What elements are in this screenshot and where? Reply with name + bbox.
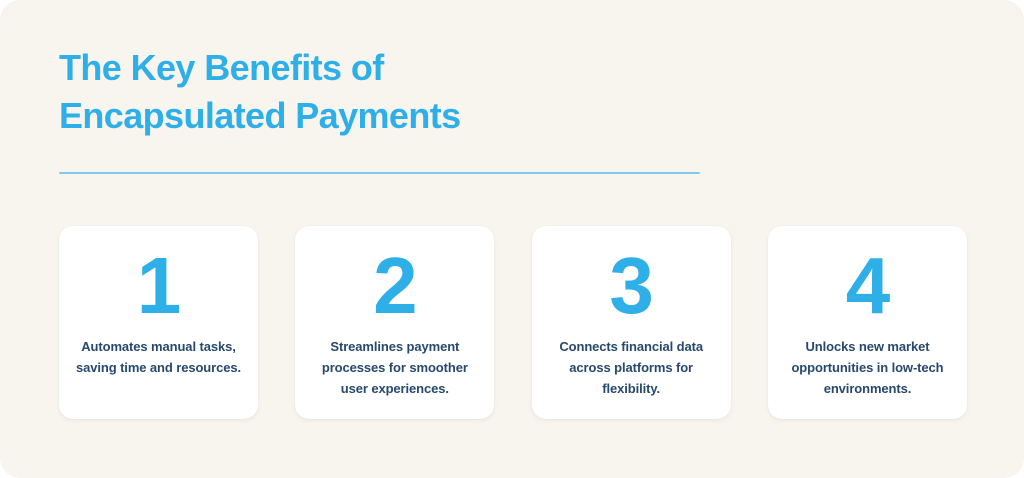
benefit-card-1: 1 Automates manual tasks, saving time an…	[59, 226, 258, 419]
benefit-description: Streamlines payment processes for smooth…	[309, 336, 481, 399]
title-divider	[59, 172, 700, 174]
benefit-number: 2	[373, 244, 417, 328]
benefit-card-list: 1 Automates manual tasks, saving time an…	[59, 226, 967, 419]
benefit-description: Automates manual tasks, saving time and …	[73, 336, 245, 378]
infographic-canvas: The Key Benefits of Encapsulated Payment…	[0, 0, 1024, 478]
benefit-number: 1	[137, 244, 181, 328]
benefit-number: 3	[609, 244, 653, 328]
header: The Key Benefits of Encapsulated Payment…	[59, 44, 759, 140]
benefit-card-4: 4 Unlocks new market opportunities in lo…	[768, 226, 967, 419]
benefit-number: 4	[846, 244, 890, 328]
benefit-description: Unlocks new market opportunities in low-…	[781, 336, 953, 399]
page-title: The Key Benefits of Encapsulated Payment…	[59, 44, 759, 140]
benefit-description: Connects financial data across platforms…	[545, 336, 717, 399]
benefit-card-2: 2 Streamlines payment processes for smoo…	[295, 226, 494, 419]
benefit-card-3: 3 Connects financial data across platfor…	[532, 226, 731, 419]
